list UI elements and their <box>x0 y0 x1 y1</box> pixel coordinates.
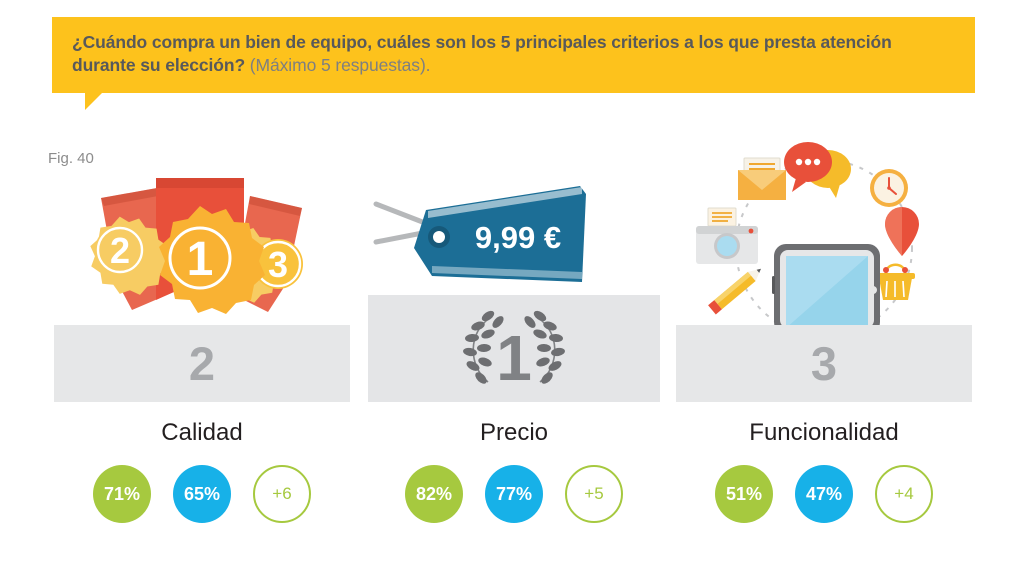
speech-bubbles-icon <box>784 142 851 198</box>
price-tag-illustration: 9,99 € <box>368 140 660 295</box>
stat-circle-secondary: 47% <box>795 465 853 523</box>
map-pin-icon <box>885 207 919 256</box>
stats-group-funcionalidad: 51% 47% +4 <box>676 465 972 523</box>
banner-question-bold: ¿Cuándo compra un bien de equipo, cuáles… <box>72 32 892 75</box>
banner-question-note: (Máximo 5 respuestas). <box>245 55 430 75</box>
price-tag-value: 9,99 € <box>475 220 561 255</box>
criterion-label-funcionalidad: Funcionalidad <box>676 421 972 445</box>
stat-circle-delta: +5 <box>565 465 623 523</box>
rosette-number-3: 3 <box>268 244 288 285</box>
criterion-column-funcionalidad: 3 Funcionalidad 51% 47% +4 <box>676 140 972 523</box>
stat-circle-delta: +6 <box>253 465 311 523</box>
rank-number: 2 <box>189 340 215 387</box>
criterion-column-calidad: 2 3 1 2 Calidad 71% 65% +6 <box>54 140 350 523</box>
banner-text: ¿Cuándo compra un bien de equipo, cuáles… <box>72 31 957 77</box>
rosettes-svg: 2 3 1 <box>54 160 350 325</box>
rosette-number-1: 1 <box>187 233 214 286</box>
rank-box-funcionalidad: 3 <box>676 325 972 402</box>
tablet-apps-illustration <box>676 140 972 325</box>
stat-circle-primary: 71% <box>93 465 151 523</box>
rank-number: 1 <box>496 322 532 392</box>
rank-number: 3 <box>811 340 837 387</box>
stat-circle-secondary: 77% <box>485 465 543 523</box>
envelope-icon <box>738 158 786 200</box>
stat-circle-primary: 51% <box>715 465 773 523</box>
stat-circle-primary: 82% <box>405 465 463 523</box>
tablet-icon <box>772 244 880 334</box>
pencil-icon <box>708 264 765 314</box>
question-banner: ¿Cuándo compra un bien de equipo, cuáles… <box>52 17 975 93</box>
devices-svg <box>676 140 972 335</box>
laurel-wreath-icon: 1 <box>454 306 574 392</box>
rank-box-calidad: 2 <box>54 325 350 402</box>
stat-circle-delta: +4 <box>875 465 933 523</box>
stats-group-calidad: 71% 65% +6 <box>54 465 350 523</box>
banner-tail <box>85 93 102 110</box>
criterion-label-precio: Precio <box>368 421 660 445</box>
award-rosettes-illustration: 2 3 1 <box>54 140 350 325</box>
criterion-column-precio: 9,99 € <box>368 140 660 523</box>
rank-box-precio: 1 <box>368 295 660 402</box>
price-tag-svg: 9,99 € <box>368 180 660 295</box>
criterion-label-calidad: Calidad <box>54 421 350 445</box>
camera-icon <box>696 208 758 264</box>
stat-circle-secondary: 65% <box>173 465 231 523</box>
rosette-number-2: 2 <box>110 230 130 271</box>
stats-group-precio: 82% 77% +5 <box>368 465 660 523</box>
clock-icon <box>870 169 908 207</box>
